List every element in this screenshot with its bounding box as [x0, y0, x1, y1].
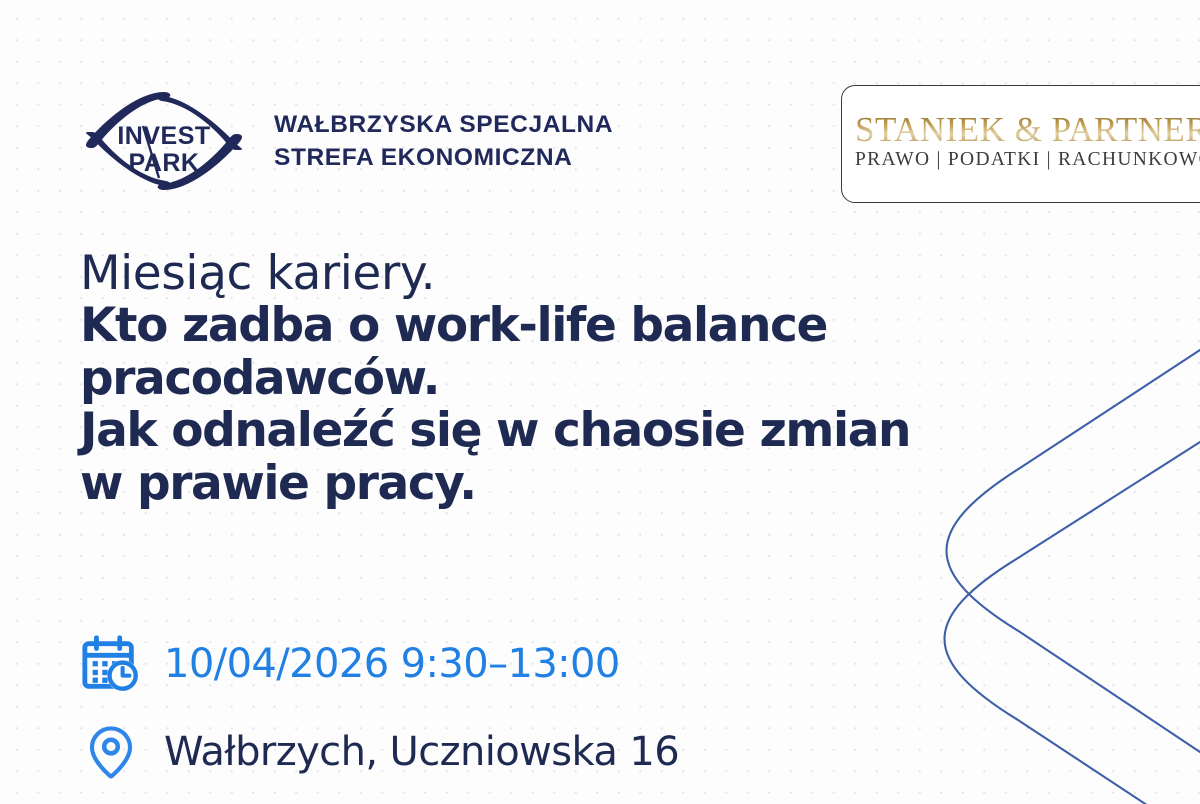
staniek-partners-subtitle: PRAWO | PODATKI | RACHUNKOWOŚĆ: [855, 149, 1200, 171]
staniek-partners-logo: STANIEK & PARTNERS PRAWO | PODATKI | RAC…: [841, 85, 1200, 203]
map-pin-icon: [80, 721, 142, 783]
invest-park-mark-line1: INVEST: [117, 122, 210, 150]
wsse-wordmark-line1: WAŁBRZYSKA SPECJALNA: [274, 111, 613, 138]
wsse-wordmark-line2: STREFA EKONOMICZNA: [274, 144, 613, 171]
wsse-wordmark: WAŁBRZYSKA SPECJALNA STREFA EKONOMICZNA: [274, 111, 613, 171]
event-location-row: Wałbrzych, Uczniowska 16: [80, 708, 679, 796]
headline-line-1: Miesiąc kariery.: [80, 248, 980, 300]
event-location-text: Wałbrzych, Uczniowska 16: [164, 729, 679, 775]
staniek-partners-logo-inner: STANIEK & PARTNERS PRAWO | PODATKI | RAC…: [855, 112, 1200, 171]
headline-line-4: Jak odnaleźć się w chaosie zmian: [80, 405, 980, 457]
invest-park-diamond-icon: INVEST PARK: [80, 86, 248, 196]
headline-line-2: Kto zadba o work-life balance: [80, 300, 980, 352]
banner-header: INVEST PARK WAŁBRZYSKA SPECJALNA STREFA …: [0, 0, 1200, 215]
event-meta-block: 10/04/2026 9:30–13:00 Wałbrzych, Uczniow…: [80, 620, 679, 796]
event-date-text: 10/04/2026 9:30–13:00: [164, 641, 620, 687]
event-banner: INVEST PARK WAŁBRZYSKA SPECJALNA STREFA …: [0, 0, 1200, 804]
invest-park-logo: INVEST PARK WAŁBRZYSKA SPECJALNA STREFA …: [80, 86, 613, 196]
staniek-partners-title: STANIEK & PARTNERS: [855, 112, 1200, 148]
invest-park-mark-line2: PARK: [129, 149, 200, 177]
event-date-row: 10/04/2026 9:30–13:00: [80, 620, 679, 708]
headline-line-3: pracodawców.: [80, 353, 980, 405]
headline-line-5: w prawie pracy.: [80, 458, 980, 510]
headline-block: Miesiąc kariery. Kto zadba o work-life b…: [80, 248, 980, 510]
calendar-clock-icon: [80, 633, 142, 695]
